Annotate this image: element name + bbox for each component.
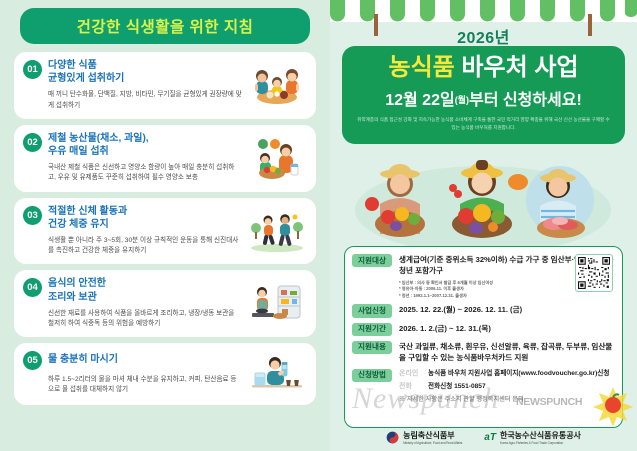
voucher-program-panel: 2026년 농식품 바우처 사업 12월 22일(월)부터 신청하세요! 취약계… bbox=[330, 0, 637, 451]
tip-title-line1: 물 충분히 마시기 bbox=[48, 353, 118, 366]
info-row-application-period: 사업신청 2025. 12. 22.(월) ~ 2026. 12. 11. (금… bbox=[352, 304, 615, 317]
apply-text: 전화신청 1551-0857 bbox=[428, 382, 486, 392]
apply-line-phone: 전화 전화신청 1551-0857 bbox=[399, 382, 615, 393]
tips-list: 01 다양한 식품 균형있게 섭취하기 매 끼니 탄수화물, 단백질, 지방, … bbox=[8, 52, 322, 405]
info-label-support-content: 지원내용 bbox=[352, 341, 392, 354]
tip-card-03: 03 적절한 신체 활동과 건강 체중 유지 식생활 뿐 아니라 주 3~5회,… bbox=[14, 198, 316, 265]
info-value-how-to-apply: 온라인 농식품 바우처 지원사업 홈페이지(www.foodvoucher.go… bbox=[399, 369, 615, 404]
taegeuk-icon bbox=[386, 431, 399, 444]
tip-body-02: 국내산 제철 식품은 신선하고 영양소 함량이 높아 매일 충분히 섭취하고, … bbox=[48, 163, 242, 183]
tip-body-01: 매 끼니 탄수화물, 단백질, 지방, 비타민, 무기질을 균형있게 권장량에 … bbox=[48, 90, 242, 110]
ministry-logo: 농림축산식품부 Ministry of Agriculture, Food an… bbox=[386, 430, 462, 445]
tip-title-03: 적절한 신체 활동과 건강 체중 유지 bbox=[48, 205, 127, 231]
info-label-how-to-apply: 신청방법 bbox=[352, 369, 392, 382]
program-title-box: 농식품 바우처 사업 12월 22일(월)부터 신청하세요! 취약계층의 식품 … bbox=[342, 46, 625, 144]
corp-label: 한국농수산식품유통공사 bbox=[500, 431, 581, 440]
tip-title-line2: 균형있게 섭취하기 bbox=[48, 72, 124, 85]
info-row-support-content: 지원내용 국산 과일류, 채소류, 흰우유, 신선알류, 육류, 잡곡류, 두부… bbox=[352, 341, 615, 364]
info-label-target: 지원대상 bbox=[352, 254, 392, 267]
program-description: 취약계층의 식품 접근성 강화 및 지속가능한 농식품 소비체계 구축을 통한 … bbox=[342, 116, 625, 132]
tip-body-04: 신선한 재료를 사용하여 식품을 올바르게 조리하고, 냉장/냉동 보관을 철저… bbox=[48, 309, 242, 329]
info-label-application-period: 사업신청 bbox=[352, 304, 392, 317]
tip-number-badge: 03 bbox=[23, 206, 42, 225]
three-farmers-with-produce-illustration bbox=[330, 148, 637, 252]
tip-head-01: 01 다양한 식품 균형있게 섭취하기 bbox=[23, 59, 242, 85]
tip-card-02: 02 제철 농산물(채소, 과일), 우유 매일 섭취 국내산 제철 식품은 신… bbox=[14, 125, 316, 192]
tip-number-badge: 02 bbox=[23, 133, 42, 152]
info-row-how-to-apply: 신청방법 온라인 농식품 바우처 지원사업 홈페이지(www.foodvouch… bbox=[352, 369, 615, 404]
jogging-couple-illustration bbox=[246, 205, 308, 257]
poster-page: 건강한 식생활을 위한 지침 01 다양한 식품 균형있게 섭취하기 매 끼니 … bbox=[0, 0, 637, 451]
tip-content-02: 02 제철 농산물(채소, 과일), 우유 매일 섭취 국내산 제철 식품은 신… bbox=[23, 132, 246, 184]
tip-content-05: 05 물 충분히 마시기 하루 1.5~2리터의 물을 마셔 체내 수분을 유지… bbox=[23, 350, 246, 397]
apply-text[interactable]: 농식품 바우처 지원사업 홈페이지(www.foodvoucher.go.kr)… bbox=[428, 369, 609, 379]
ministry-label: 농림축산식품부 bbox=[403, 431, 455, 440]
tip-content-03: 03 적절한 신체 활동과 건강 체중 유지 식생활 뿐 아니라 주 3~5회,… bbox=[23, 205, 246, 257]
tip-head-03: 03 적절한 신체 활동과 건강 체중 유지 bbox=[23, 205, 242, 231]
info-row-support-period: 지원기간 2026. 1. 2.(금) ~ 12. 31.(목) bbox=[352, 323, 615, 336]
info-value-support-period: 2026. 1. 2.(금) ~ 12. 31.(목) bbox=[399, 323, 615, 334]
apply-line-online: 온라인 농식품 바우처 지원사업 홈페이지(www.foodvoucher.go… bbox=[399, 369, 615, 380]
program-subtitle: 12월 22일(월)부터 신청하세요! bbox=[342, 86, 625, 110]
tip-title-02: 제철 농산물(채소, 과일), 우유 매일 섭취 bbox=[48, 132, 149, 158]
info-label-support-period: 지원기간 bbox=[352, 323, 392, 336]
ministry-sub: Ministry of Agriculture, Food and Rural … bbox=[403, 441, 462, 445]
tip-title-line2: 건강 체중 유지 bbox=[48, 218, 127, 231]
tip-body-05: 하루 1.5~2리터의 물을 마셔 체내 수분을 유지하고, 커피, 탄산음료 … bbox=[48, 375, 242, 395]
program-title-highlight: 농식품 bbox=[389, 54, 455, 81]
info-value-support-content: 국산 과일류, 채소류, 흰우유, 신선알류, 육류, 잡곡류, 두부류, 임산… bbox=[399, 341, 615, 364]
tip-title-04: 음식의 안전한 조리와 보관 bbox=[48, 277, 106, 303]
tip-title-line2: 조리와 보관 bbox=[48, 291, 106, 304]
left-panel-header: 건강한 식생활을 위한 지침 bbox=[20, 8, 310, 44]
tip-card-01: 01 다양한 식품 균형있게 섭취하기 매 끼니 탄수화물, 단백질, 지방, … bbox=[14, 52, 316, 119]
tip-title-line1: 제철 농산물(채소, 과일), bbox=[48, 132, 149, 145]
tip-number-badge: 01 bbox=[23, 60, 42, 79]
man-drinking-water-illustration bbox=[246, 350, 308, 397]
program-title: 농식품 바우처 사업 bbox=[342, 54, 625, 82]
at-mark: aT bbox=[484, 432, 496, 443]
tip-head-05: 05 물 충분히 마시기 bbox=[23, 350, 242, 370]
tip-content-04: 04 음식의 안전한 조리와 보관 신선한 재료를 사용하여 식품을 올바르게 … bbox=[23, 277, 246, 329]
tip-card-04: 04 음식의 안전한 조리와 보관 신선한 재료를 사용하여 식품을 올바르게 … bbox=[14, 270, 316, 337]
mother-child-produce-illustration bbox=[246, 132, 308, 184]
apply-channel: 온라인 bbox=[399, 369, 423, 380]
program-year: 2026년 bbox=[330, 24, 637, 48]
corp-name: 한국농수산식품유통공사 Korea Agro-Fisheries & Food … bbox=[500, 430, 581, 445]
tip-title-line2: 우유 매일 섭취 bbox=[48, 145, 149, 158]
program-info-box: 지원대상 생계급여(기준 중위소득 32%이하) 수급 가구 중 임산부·영유아… bbox=[344, 246, 623, 428]
qr-code[interactable] bbox=[575, 254, 613, 292]
tip-content-01: 01 다양한 식품 균형있게 섭취하기 매 끼니 탄수화물, 단백질, 지방, … bbox=[23, 59, 246, 111]
apply-extra-note: ※ 자세한 사항은 주소지 관할 행정복지센터 문의 bbox=[399, 395, 615, 404]
tip-head-02: 02 제철 농산물(채소, 과일), 우유 매일 섭취 bbox=[23, 132, 242, 158]
footer-logos: 농림축산식품부 Ministry of Agriculture, Food an… bbox=[330, 430, 637, 445]
tip-title-line1: 적절한 신체 활동과 bbox=[48, 205, 127, 218]
tip-card-05: 05 물 충분히 마시기 하루 1.5~2리터의 물을 마셔 체내 수분을 유지… bbox=[14, 343, 316, 405]
apply-lines: 온라인 농식품 바우처 지원사업 홈페이지(www.foodvoucher.go… bbox=[399, 369, 615, 393]
tip-title-01: 다양한 식품 균형있게 섭취하기 bbox=[48, 59, 124, 85]
corp-sub: Korea Agro-Fisheries & Food Trade Corpor… bbox=[500, 441, 581, 445]
tip-number-badge: 04 bbox=[23, 278, 42, 297]
cooking-refrigerator-illustration bbox=[246, 277, 308, 329]
subtitle-date: 12월 22일 bbox=[385, 92, 454, 109]
subtitle-day: (월) bbox=[455, 95, 469, 105]
info-value-application-period: 2025. 12. 22.(월) ~ 2026. 12. 11. (금) bbox=[399, 304, 615, 315]
tip-title-line1: 음식의 안전한 bbox=[48, 277, 106, 290]
tip-title-line1: 다양한 식품 bbox=[48, 59, 124, 72]
tip-number-badge: 05 bbox=[23, 351, 42, 370]
tip-head-04: 04 음식의 안전한 조리와 보관 bbox=[23, 277, 242, 303]
program-title-rest: 바우처 사업 bbox=[455, 54, 579, 81]
tip-title-05: 물 충분히 마시기 bbox=[48, 350, 118, 366]
sun-burst-decoration bbox=[593, 385, 633, 425]
subtitle-action: 부터 신청하세요! bbox=[469, 92, 582, 109]
tip-body-03: 식생활 뿐 아니라 주 3~5회, 30분 이상 규칙적인 운동을 통해 신진대… bbox=[48, 236, 242, 256]
ministry-name: 농림축산식품부 Ministry of Agriculture, Food an… bbox=[403, 430, 462, 445]
family-meal-illustration bbox=[246, 59, 308, 111]
left-header-title: 건강한 식생활을 위한 지침 bbox=[77, 15, 254, 37]
dietary-guidelines-panel: 건강한 식생활을 위한 지침 01 다양한 식품 균형있게 섭취하기 매 끼니 … bbox=[0, 0, 330, 451]
apply-channel: 전화 bbox=[399, 382, 423, 393]
at-corporation-logo: aT 한국농수산식품유통공사 Korea Agro-Fisheries & Fo… bbox=[484, 430, 581, 445]
